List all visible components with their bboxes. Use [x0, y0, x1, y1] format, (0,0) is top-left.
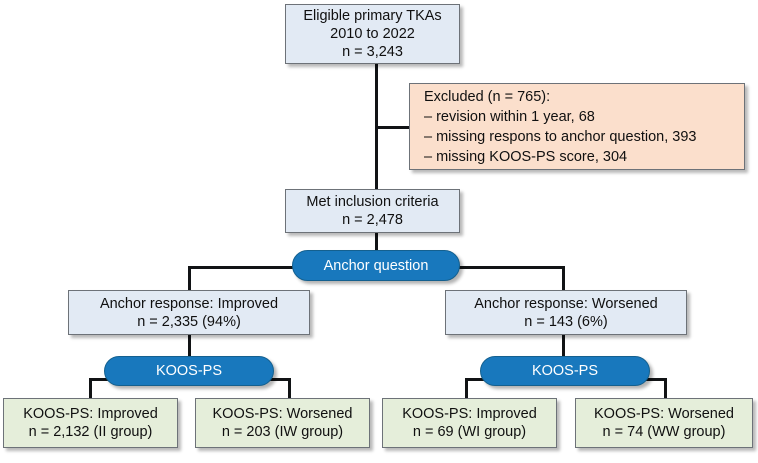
connector-koos-left-drop-r — [288, 378, 291, 400]
node-eligible-tkas: Eligible primary TKAs 2010 to 2022 n = 3… — [285, 4, 460, 64]
connector-improved-to-koos-pill — [188, 334, 191, 358]
connector-koos-right-drop-r — [664, 378, 667, 400]
eligible-line-1: Eligible primary TKAs — [303, 7, 441, 25]
excluded-line-2: – revision within 1 year, 68 — [424, 107, 595, 127]
eligible-line-3: n = 3,243 — [342, 43, 403, 61]
node-met-inclusion-criteria: Met inclusion criteria n = 2,478 — [285, 189, 460, 233]
koos-ps-right-label: KOOS-PS — [532, 363, 598, 379]
ww-group-line-2: n = 74 (WW group) — [603, 423, 726, 441]
anchor-improved-line-1: Anchor response: Improved — [100, 295, 278, 313]
node-iw-group: KOOS-PS: Worsened n = 203 (IW group) — [195, 398, 370, 448]
node-excluded: Excluded (n = 765): – revision within 1 … — [409, 83, 745, 170]
node-wi-group: KOOS-PS: Improved n = 69 (WI group) — [382, 398, 557, 448]
node-ww-group: KOOS-PS: Worsened n = 74 (WW group) — [575, 398, 753, 448]
connector-anchor-left-drop — [188, 266, 191, 291]
pill-koos-ps-left[interactable]: KOOS-PS — [104, 356, 274, 386]
connector-anchor-right-arm — [455, 266, 565, 269]
ii-group-line-1: KOOS-PS: Improved — [23, 405, 158, 423]
ii-group-line-2: n = 2,132 (II group) — [29, 423, 153, 441]
iw-group-line-1: KOOS-PS: Worsened — [213, 405, 353, 423]
included-line-2: n = 2,478 — [342, 211, 403, 229]
koos-ps-left-label: KOOS-PS — [156, 363, 222, 379]
wi-group-line-2: n = 69 (WI group) — [413, 423, 526, 441]
connector-anchor-right-drop — [562, 266, 565, 291]
anchor-improved-line-2: n = 2,335 (94%) — [137, 313, 241, 331]
anchor-question-label: Anchor question — [324, 258, 429, 274]
ww-group-line-1: KOOS-PS: Worsened — [594, 405, 734, 423]
connector-anchor-left-arm — [188, 266, 298, 269]
node-ii-group: KOOS-PS: Improved n = 2,132 (II group) — [3, 398, 178, 448]
excluded-line-4: – missing KOOS-PS score, 304 — [424, 147, 627, 167]
pill-anchor-question[interactable]: Anchor question — [292, 250, 460, 281]
connector-worsened-to-koos-pill — [562, 334, 565, 358]
anchor-worsened-line-2: n = 143 (6%) — [524, 313, 607, 331]
iw-group-line-2: n = 203 (IW group) — [222, 423, 343, 441]
pill-koos-ps-right[interactable]: KOOS-PS — [480, 356, 650, 386]
eligible-line-2: 2010 to 2022 — [330, 25, 415, 43]
node-anchor-response-worsened: Anchor response: Worsened n = 143 (6%) — [445, 290, 687, 335]
flowchart-canvas: Eligible primary TKAs 2010 to 2022 n = 3… — [0, 0, 758, 463]
connector-koos-right-drop-l — [465, 378, 468, 400]
excluded-line-3: – missing respons to anchor question, 39… — [424, 127, 696, 147]
wi-group-line-1: KOOS-PS: Improved — [402, 405, 537, 423]
anchor-worsened-line-1: Anchor response: Worsened — [474, 295, 658, 313]
connector-to-excluded — [375, 126, 411, 129]
node-anchor-response-improved: Anchor response: Improved n = 2,335 (94%… — [68, 290, 310, 335]
connector-koos-left-drop-l — [89, 378, 92, 400]
included-line-1: Met inclusion criteria — [306, 193, 438, 211]
excluded-line-1: Excluded (n = 765): — [424, 87, 550, 107]
